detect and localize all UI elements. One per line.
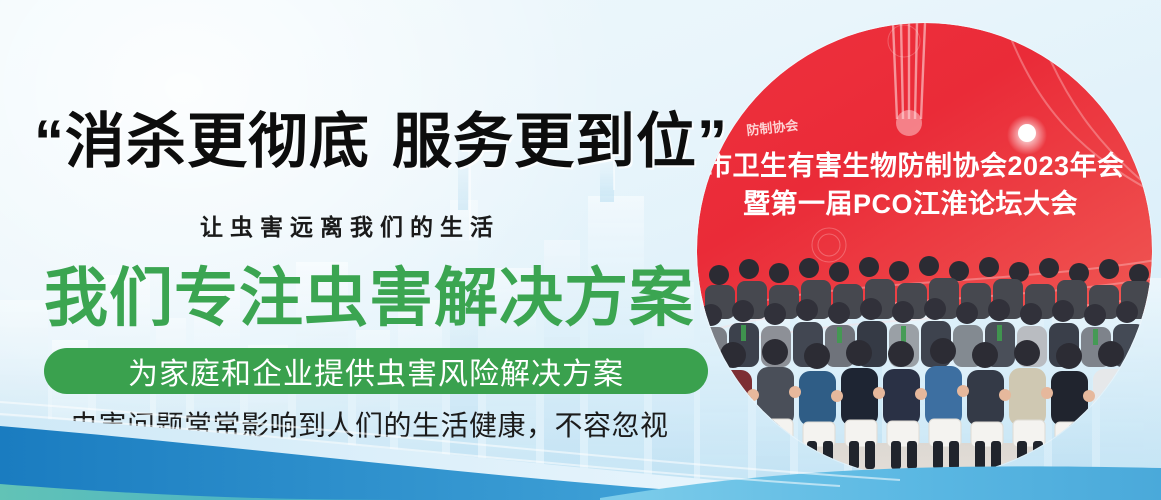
promo-banner: 防制协会 市卫生有害生物防制协会2023年会 暨第一届PCO江淮论坛大会: [0, 0, 1161, 500]
headline-subtitle: 让虫害远离我们的生活: [200, 208, 500, 242]
banner-copy: “消杀更彻底服务更到位” 让虫害远离我们的生活 我们专注虫害解决方案 为家庭和企…: [0, 0, 720, 500]
service-pill: 为家庭和企业提供虫害风险解决方案: [44, 348, 708, 394]
headline-main-left: “消杀更彻底: [34, 108, 370, 175]
headline-green: 我们专注虫害解决方案: [44, 266, 694, 330]
svg-text:暨第一届PCO江淮论坛大会: 暨第一届PCO江淮论坛大会: [743, 188, 1078, 219]
headline-main-right: 服务更到位”: [392, 108, 728, 175]
service-pill-label: 为家庭和企业提供虫害风险解决方案: [128, 349, 624, 393]
headline-main: “消杀更彻底服务更到位”: [34, 112, 728, 172]
svg-text:市卫生有害生物防制协会2023年会: 市卫生有害生物防制协会2023年会: [705, 150, 1125, 181]
banner-tagline: 虫害问题常常影响到人们的生活健康，不容忽视: [70, 404, 669, 444]
conference-photo-circle: 防制协会 市卫生有害生物防制协会2023年会 暨第一届PCO江淮论坛大会: [697, 23, 1152, 478]
